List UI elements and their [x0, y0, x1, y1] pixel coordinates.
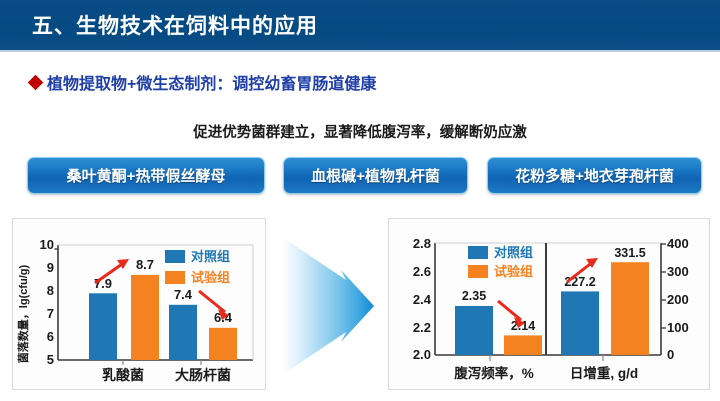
left-chart-legend-label-control: 对照组: [191, 249, 230, 264]
tagline-text: 促进优势菌群建立，显著降低腹泻率，缓解断奶应激: [0, 121, 720, 142]
left-chart-ytick-9: 9: [47, 260, 54, 275]
subtitle-row: 植物提取物+微生态制剂：调控幼畜胃肠道健康: [30, 70, 376, 94]
right-chart-legend-label-test: 试验组: [494, 264, 533, 279]
right-chart-left-ytick-2_6: 2.6: [413, 264, 431, 279]
right-chart-category-2: 日增重, g/d: [570, 365, 638, 381]
treatment-pill-2[interactable]: 血根碱+植物乳杆菌: [283, 157, 468, 194]
right-chart-left-ytick-2_2: 2.2: [413, 320, 431, 335]
right-chart-bar-test-adg: [611, 262, 649, 355]
right-chart-value-test-diarrhea: 2.14: [511, 319, 535, 333]
right-chart-value-control-diarrhea: 2.35: [462, 289, 486, 303]
treatment-pill-1[interactable]: 桑叶黄酮+热带假丝酵母: [27, 157, 265, 194]
right-chart-category-1: 腹泻频率，%: [454, 365, 534, 381]
left-chart-svg: 菌落数量，lg(cfu/g) 10 9 8 7 6 5 7.9 8.7 7.4 …: [13, 219, 265, 389]
right-chart-bar-control-adg: [561, 291, 599, 355]
right-chart-right-ytick-0: 0: [667, 347, 674, 362]
left-chart-bar-control-2: [169, 305, 197, 360]
right-chart-left-ytick-2_4: 2.4: [413, 292, 432, 307]
left-chart-category-1: 乳酸菌: [102, 367, 144, 383]
left-chart-ytick-8: 8: [47, 283, 54, 298]
right-chart-right-ytick-200: 200: [667, 292, 689, 307]
page-title: 五、生物技术在饲料中的应用: [32, 10, 318, 40]
left-chart-ytick-5: 5: [47, 352, 54, 367]
right-chart-left-ytick-2_8: 2.8: [413, 236, 431, 251]
right-chart-bar-control-diarrhea: [455, 306, 493, 355]
right-chart-svg: 2.8 2.6 2.4 2.2 2.0 400 300 200 100 0 2.…: [389, 219, 709, 389]
left-chart-ylabel: 菌落数量，lg(cfu/g): [16, 264, 30, 363]
right-chart-left-ytick-2_0: 2.0: [413, 347, 431, 362]
header-underline: [0, 50, 720, 52]
left-chart-legend-swatch-test: [165, 271, 185, 284]
left-chart-ytick-6: 6: [47, 329, 54, 344]
right-chart-right-ytick-300: 300: [667, 264, 689, 279]
right-chart-right-ytick-400: 400: [667, 236, 689, 251]
left-chart-bar-test-1: [131, 275, 159, 360]
left-chart-category-2: 大肠杆菌: [175, 367, 231, 383]
left-chart-legend-label-test: 试验组: [191, 270, 230, 285]
right-arrow-icon: [278, 232, 378, 380]
right-chart-value-test-adg: 331.5: [614, 246, 645, 260]
right-chart-bar-test-diarrhea: [504, 335, 542, 355]
right-chart-legend-swatch-control: [468, 246, 488, 259]
treatment-pill-2-label: 血根碱+植物乳杆菌: [311, 165, 440, 186]
right-chart-right-ytick-100: 100: [667, 320, 689, 335]
left-chart-value-test-1: 8.7: [136, 257, 154, 272]
right-chart-panel: 2.8 2.6 2.4 2.2 2.0 400 300 200 100 0 2.…: [388, 218, 710, 390]
left-chart-value-control-2: 7.4: [174, 287, 193, 302]
diamond-bullet-icon: [28, 74, 44, 90]
right-chart-legend-label-control: 对照组: [494, 245, 533, 260]
left-chart-ytick-10: 10: [40, 237, 54, 252]
left-chart-panel: 菌落数量，lg(cfu/g) 10 9 8 7 6 5 7.9 8.7 7.4 …: [12, 218, 266, 390]
right-chart-legend-swatch-test: [468, 265, 488, 278]
treatment-pill-1-label: 桑叶黄酮+热带假丝酵母: [67, 165, 226, 186]
left-chart-ytick-7: 7: [47, 306, 54, 321]
left-chart-legend-swatch-control: [165, 250, 185, 263]
treatment-pill-3-label: 花粉多糖+地衣芽孢杆菌: [515, 165, 674, 186]
treatment-pill-3[interactable]: 花粉多糖+地衣芽孢杆菌: [487, 157, 702, 194]
left-chart-bar-test-2: [209, 328, 237, 360]
left-chart-bar-control-1: [89, 293, 117, 360]
subtitle-text: 植物提取物+微生态制剂：调控幼畜胃肠道健康: [47, 70, 376, 94]
